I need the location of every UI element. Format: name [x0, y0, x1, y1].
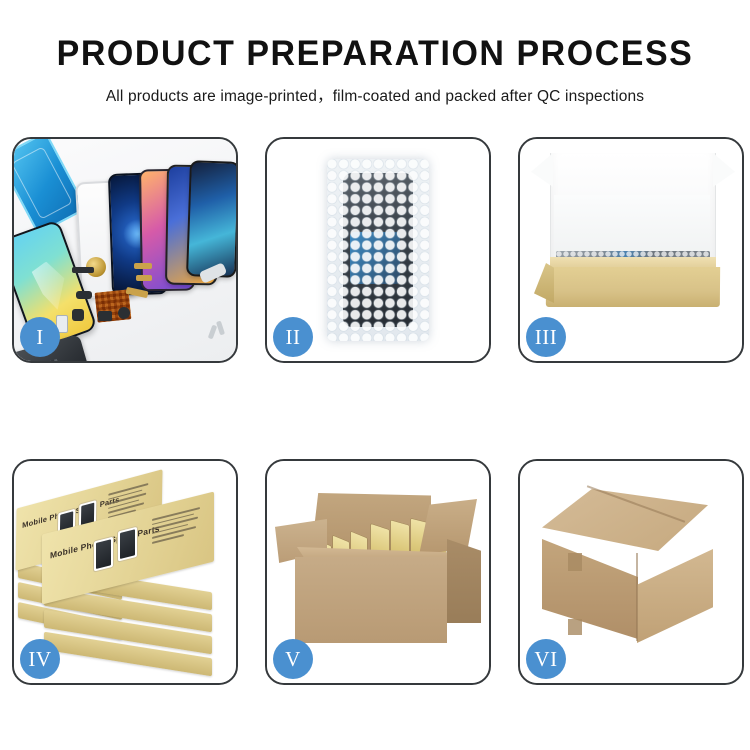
step-panel-2: II — [265, 137, 491, 363]
flex-cable-b — [136, 275, 152, 281]
carton-front-panel — [295, 557, 447, 643]
carton-left-panel — [542, 539, 638, 639]
screw-a — [208, 325, 217, 340]
page-subtitle: All products are image-printed，film-coat… — [0, 84, 750, 106]
step-panel-5: V — [265, 459, 491, 685]
carton-tape-upper — [568, 553, 582, 571]
product-preparation-infographic: PRODUCT PREPARATION PROCESS All products… — [0, 0, 750, 750]
bubble-wrap-pouch — [327, 159, 429, 341]
steps-grid: I II III — [12, 137, 738, 689]
step-badge-1: I — [20, 317, 60, 357]
step-panel-3: III — [518, 137, 744, 363]
step-badge-2: II — [273, 317, 313, 357]
page-title: PRODUCT PREPARATION PROCESS — [11, 36, 739, 71]
carton-tape-lower — [568, 619, 582, 635]
phone-parts-assortment-image: I — [14, 139, 236, 361]
step-badge-3: III — [526, 317, 566, 357]
carton-side-panel — [447, 539, 481, 623]
sealed-carton-image: VI — [520, 461, 742, 683]
open-mailer-box-image: III — [520, 139, 742, 361]
step-badge-5: V — [273, 639, 313, 679]
box-art-screen-d — [118, 527, 137, 562]
bubble-wrapped-part-image: II — [267, 139, 489, 361]
carton-corner-seam — [636, 553, 638, 641]
box-spec-lines-front — [152, 507, 200, 547]
speaker-part — [118, 307, 130, 319]
bubble-texture — [327, 159, 429, 341]
small-part-c — [72, 309, 84, 321]
box-art-screen-c — [94, 537, 113, 572]
open-carton-image: V — [267, 461, 489, 683]
step-badge-4: IV — [20, 639, 60, 679]
step-badge-6: VI — [526, 639, 566, 679]
step-panel-1: I — [12, 137, 238, 363]
stacked-retail-boxes-image: Mobile Phone Spare Parts Mobile Phone Sp… — [14, 461, 236, 683]
step-panel-6: VI — [518, 459, 744, 685]
box-front-panel — [546, 267, 720, 307]
header: PRODUCT PREPARATION PROCESS All products… — [0, 0, 750, 106]
small-part-b — [76, 291, 92, 299]
flex-cable-a — [134, 263, 152, 269]
small-part-d — [98, 311, 112, 321]
step-panel-4: Mobile Phone Spare Parts Mobile Phone Sp… — [12, 459, 238, 685]
lcd-screen-teal — [186, 160, 236, 278]
small-part-a — [72, 267, 94, 273]
carton-right-panel — [637, 549, 713, 643]
screw-b — [216, 321, 225, 336]
box-side-flap — [534, 263, 554, 303]
